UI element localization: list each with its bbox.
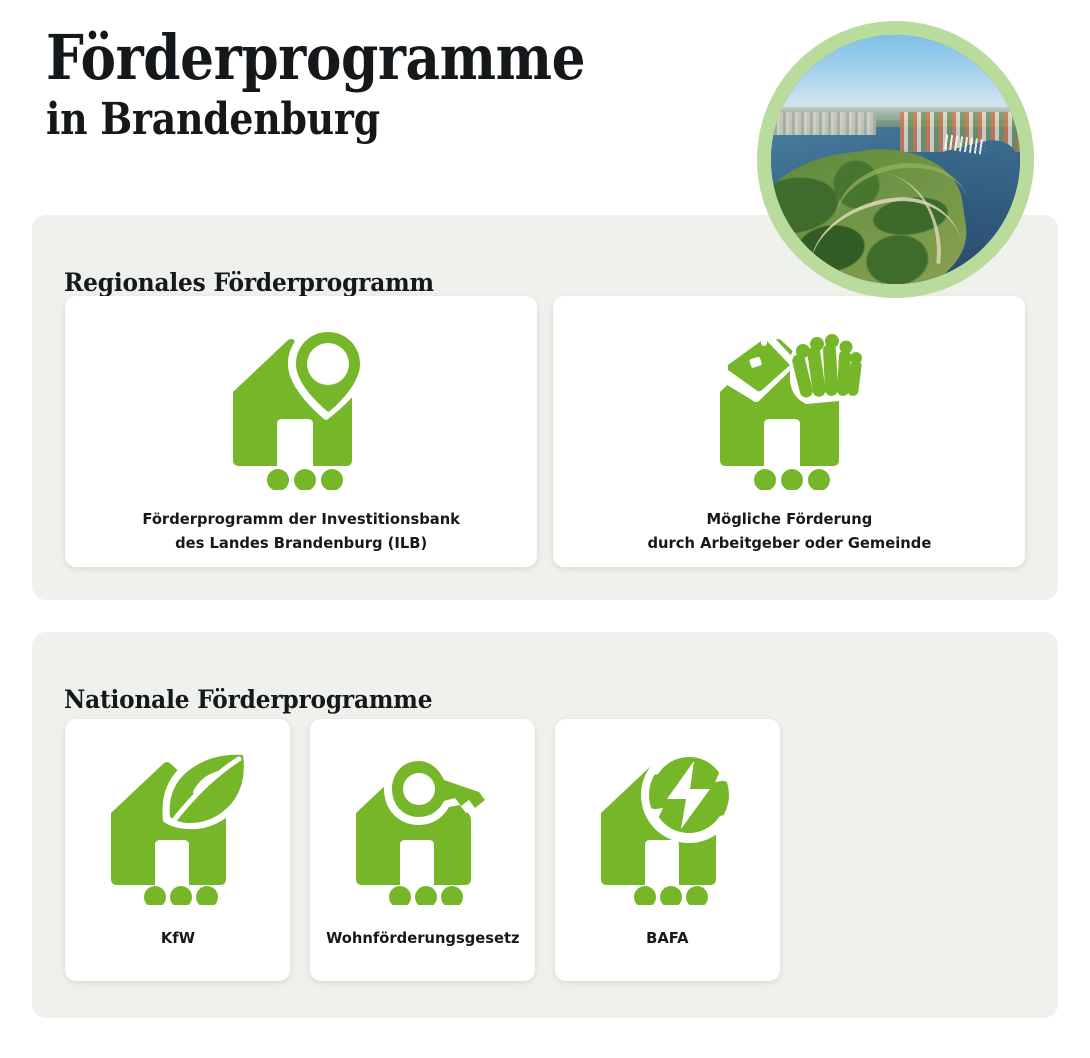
house-map-pin-icon bbox=[221, 320, 381, 490]
card-wfg-label: Wohnförderungsgesetz bbox=[326, 927, 520, 951]
card-bafa[interactable]: BAFA bbox=[555, 719, 780, 981]
leaf-glyph bbox=[162, 747, 250, 830]
aerial-photo-image bbox=[771, 35, 1020, 284]
house-energy-bolt-icon bbox=[593, 745, 743, 905]
card-kfw-label: KfW bbox=[160, 927, 194, 951]
page-header: Förderprogramme in Brandenburg bbox=[46, 26, 746, 143]
card-arbeitgeber[interactable]: Mögliche Förderung durch Arbeitgeber ode… bbox=[553, 296, 1025, 567]
page-title: Förderprogramme bbox=[46, 26, 648, 89]
photo-town-left bbox=[771, 112, 876, 134]
card-kfw[interactable]: KfW bbox=[65, 719, 290, 981]
card-ilb-label: Förderprogramm der Investitionsbank des … bbox=[142, 508, 460, 555]
section-title-regional: Regionales Förderprogramm bbox=[64, 268, 434, 297]
house-briefcase-handshake-icon bbox=[702, 320, 877, 490]
card-arbeitgeber-label: Mögliche Förderung durch Arbeitgeber ode… bbox=[647, 508, 931, 555]
aerial-photo-bubble bbox=[757, 21, 1034, 298]
card-bafa-label: BAFA bbox=[646, 927, 688, 951]
key-glyph bbox=[384, 753, 495, 825]
handshake-glyph bbox=[790, 334, 862, 404]
house-key-icon bbox=[348, 745, 498, 905]
page-subtitle: in Brandenburg bbox=[46, 97, 648, 143]
card-ilb[interactable]: Förderprogramm der Investitionsbank des … bbox=[65, 296, 537, 567]
section-title-national: Nationale Förderprogramme bbox=[64, 685, 432, 714]
card-wohnfoerderungsgesetz[interactable]: Wohnförderungsgesetz bbox=[310, 719, 535, 981]
house-leaf-icon bbox=[103, 745, 253, 905]
energy-cycle-glyph bbox=[641, 747, 737, 843]
